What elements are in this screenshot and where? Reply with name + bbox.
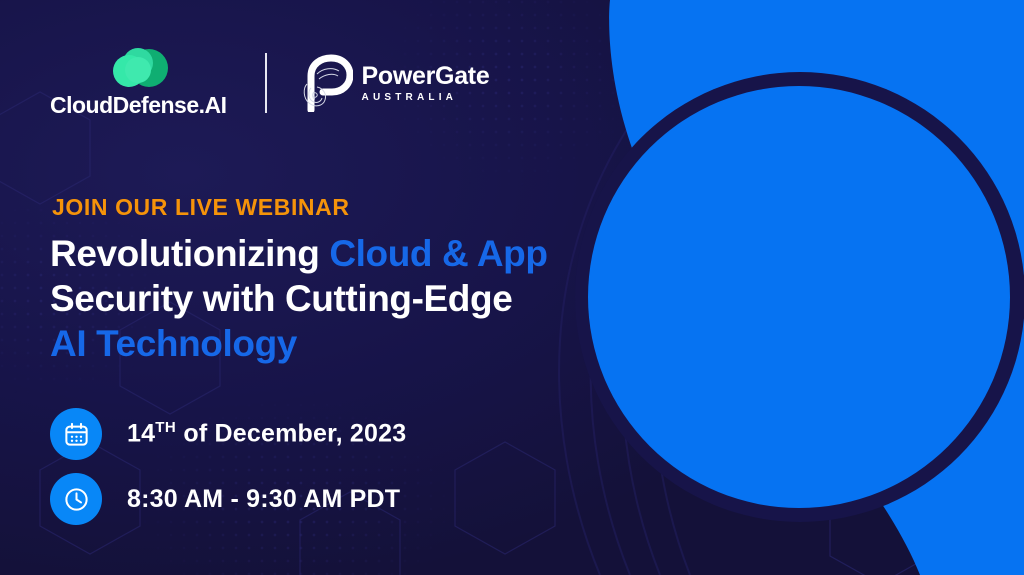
webinar-time-row: 8:30 AM - 9:30 AM PDT	[50, 473, 400, 525]
headline-part-2: Cloud & App	[329, 233, 547, 274]
date-ordinal: TH	[155, 419, 176, 436]
date-day: 14	[127, 420, 155, 448]
powergate-wordmark: PowerGate	[362, 64, 490, 89]
logo-row: CloudDefense.AI PowerGate	[50, 44, 489, 122]
webinar-banner: AI	[0, 0, 1024, 575]
headline-part-4: AI Technology	[50, 323, 297, 364]
calendar-icon-badge	[50, 408, 102, 460]
webinar-time-text: 8:30 AM - 9:30 AM PDT	[127, 485, 400, 514]
powergate-subtitle: AUSTRALIA	[362, 92, 490, 103]
calendar-icon	[63, 421, 90, 448]
blue-ring-backdrop	[588, 86, 1010, 508]
headline-part-1: Revolutionizing	[50, 233, 329, 274]
clouddefense-logo[interactable]: CloudDefense.AI	[50, 48, 227, 119]
logo-divider	[265, 53, 267, 113]
clock-icon-badge	[50, 473, 102, 525]
cloud-mark-icon	[105, 48, 171, 88]
kicker-text: JOIN OUR LIVE WEBINAR	[52, 194, 350, 221]
webinar-date-text: 14TH of December, 2023	[127, 419, 406, 448]
clock-icon	[63, 486, 90, 513]
headline-part-3: Security with Cutting-Edge	[50, 278, 512, 319]
webinar-date-row: 14TH of December, 2023	[50, 408, 406, 460]
clouddefense-wordmark: CloudDefense.AI	[50, 92, 227, 119]
page-title: Revolutionizing Cloud & App Security wit…	[50, 232, 580, 366]
content-column: CloudDefense.AI PowerGate	[0, 0, 600, 575]
powergate-logo[interactable]: PowerGate AUSTRALIA	[301, 54, 490, 112]
powergate-p-mark-icon	[301, 54, 353, 112]
date-rest: of December, 2023	[176, 420, 406, 448]
